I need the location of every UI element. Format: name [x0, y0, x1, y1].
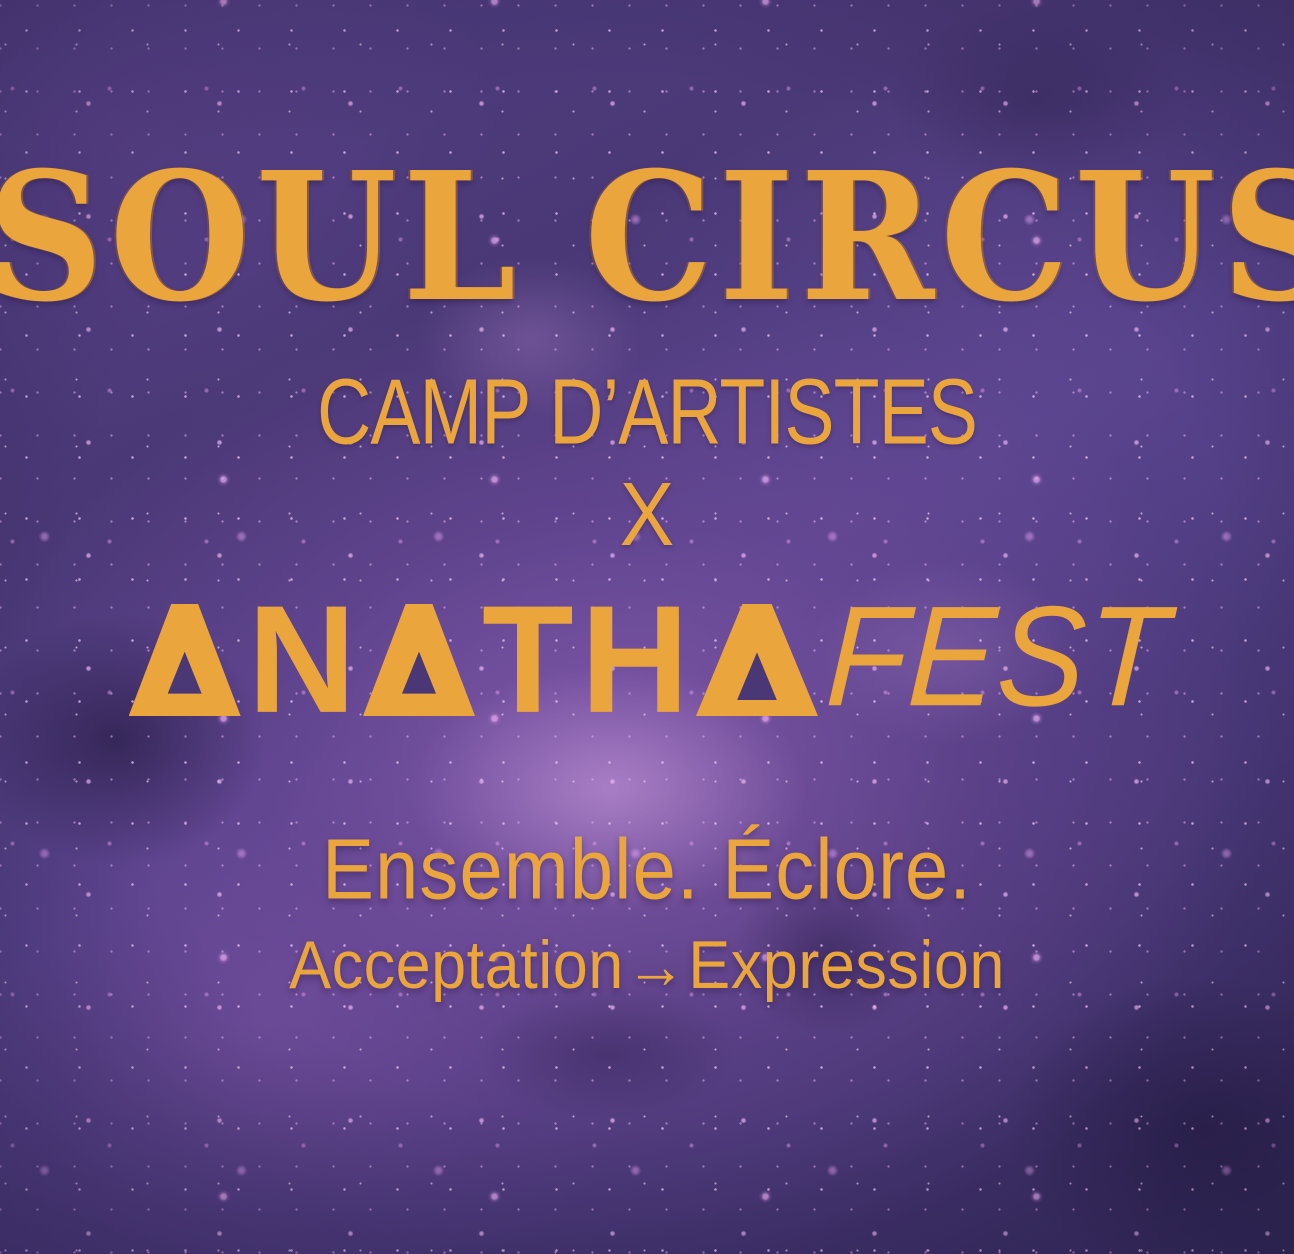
tagline-secondary: Acceptation→Expression — [0, 932, 1294, 1000]
poster-title: SOUL CIRCUS — [0, 150, 1294, 327]
anatha-letter-t: T — [482, 602, 574, 716]
anatha-letter-a-1 — [129, 604, 241, 716]
poster-canvas: SOUL CIRCUS CAMP D’ARTISTES X N T H FEST… — [0, 0, 1294, 1254]
tagline-from: Acceptation — [289, 928, 624, 1004]
anatha-wordmark: N T H — [129, 604, 818, 716]
anatha-letter-a-3 — [696, 604, 818, 716]
anatha-letter-n: N — [248, 602, 356, 716]
arrow-right-icon: → — [624, 934, 689, 999]
anathafest-logo: N T H FEST — [0, 586, 1294, 716]
tagline-primary: Ensemble. Éclore. — [0, 826, 1294, 912]
tagline-to: Expression — [688, 928, 1005, 1004]
anatha-letter-h: H — [581, 602, 689, 716]
fest-wordmark: FEST — [824, 600, 1171, 716]
collaboration-separator: X — [0, 470, 1294, 560]
poster-content: SOUL CIRCUS CAMP D’ARTISTES X N T H FEST… — [0, 0, 1294, 1254]
poster-subtitle: CAMP D’ARTISTES — [39, 366, 1255, 459]
anatha-letter-a-2 — [363, 604, 475, 716]
